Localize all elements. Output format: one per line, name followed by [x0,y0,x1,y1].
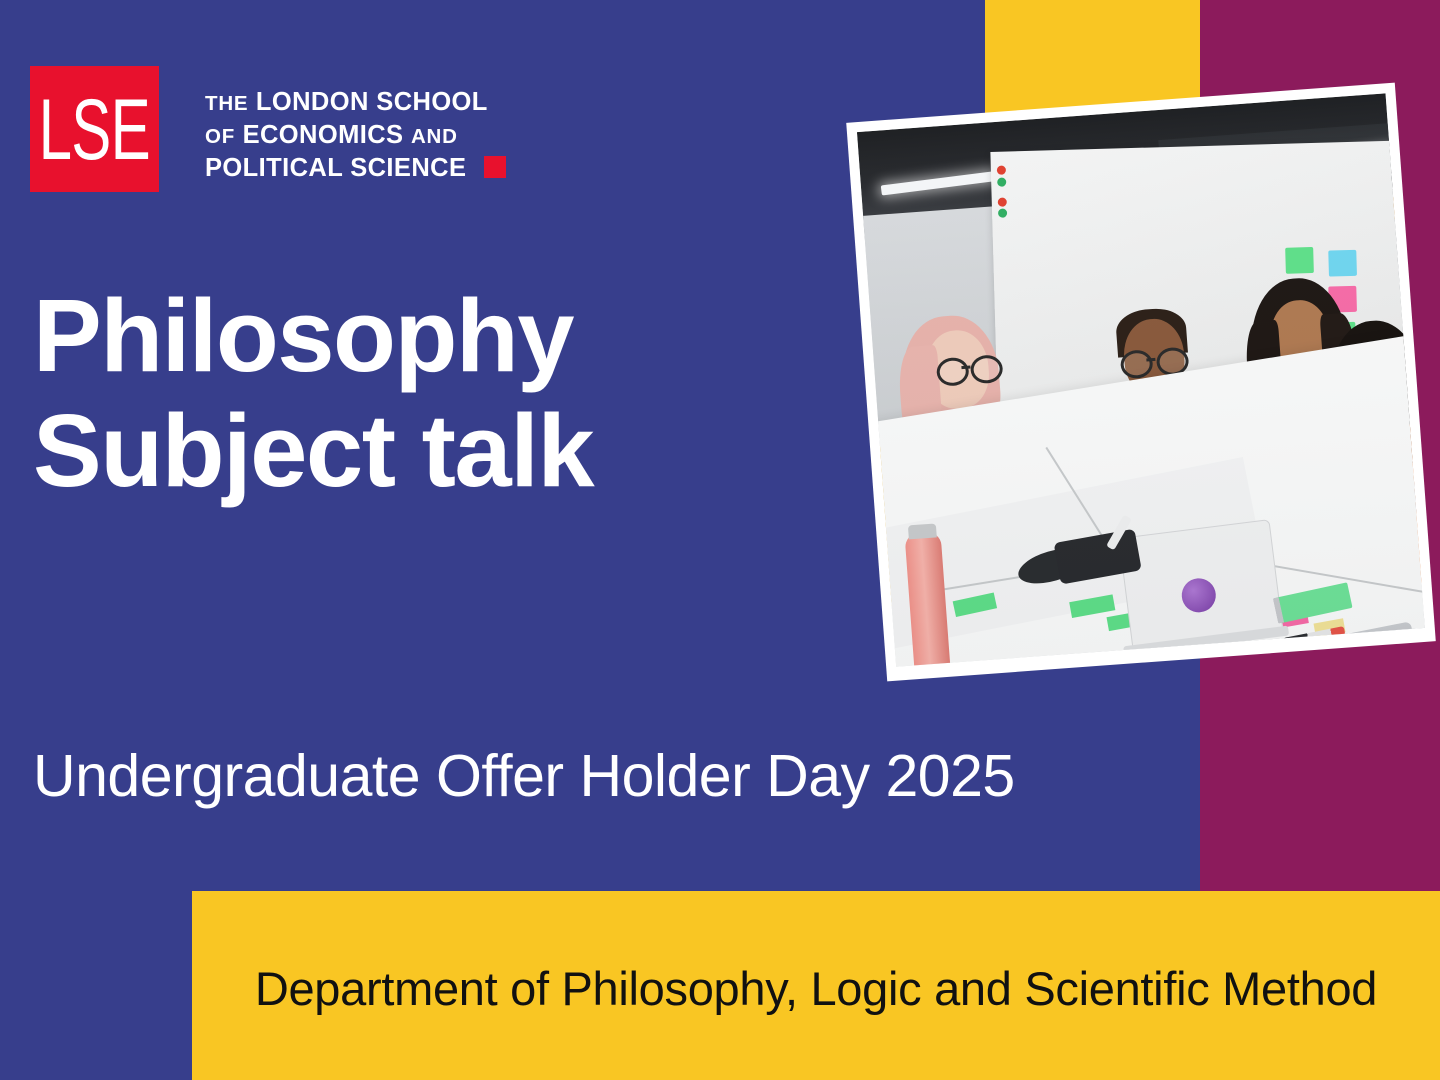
slide-title: Philosophy Subject talk [33,278,813,509]
lse-logo-line-3: POLITICAL SCIENCE [205,152,506,185]
lse-logo-the: THE [205,92,248,115]
classroom-photo [857,93,1425,666]
lse-logo-line-1: THE LONDON SCHOOL [205,86,506,119]
classroom-photo-frame [846,83,1436,682]
photo-magnet-green-1 [997,178,1006,187]
lse-logo-line-2: OF ECONOMICS AND [205,119,506,152]
lse-logo-economics: ECONOMICS [243,121,404,149]
photo-bottle-cap [908,523,937,539]
lse-logo-of: OF [205,125,235,148]
photo-sticky-note [1328,250,1357,277]
photo-sticky-note [1285,247,1314,274]
lse-logo-mark-text: LSE [39,87,150,173]
slide-title-line-1: Philosophy [33,278,813,393]
photo-magnet-red-1 [997,166,1006,175]
lse-logo: LSE THE LONDON SCHOOL OF ECONOMICS AND P… [30,66,506,192]
lse-logo-and: AND [411,125,458,148]
photo-magnet-green-2 [998,209,1007,218]
photo-magnet-red-2 [998,198,1007,207]
photo-person-glasses [1120,347,1188,376]
lse-logo-mark: LSE [30,66,159,192]
lse-logo-red-square-icon [484,156,506,178]
lse-logo-london-school: LONDON SCHOOL [256,88,488,116]
slide-subtitle: Undergraduate Offer Holder Day 2025 [33,744,1015,809]
photo-person-glasses [936,354,1000,382]
department-footer: Department of Philosophy, Logic and Scie… [192,891,1440,1080]
slide-title-line-2: Subject talk [33,393,813,508]
lse-logo-political-science: POLITICAL SCIENCE [205,154,466,182]
slide-root: LSE THE LONDON SCHOOL OF ECONOMICS AND P… [0,0,1440,1080]
lse-logo-wordmark: THE LONDON SCHOOL OF ECONOMICS AND POLIT… [205,86,506,185]
